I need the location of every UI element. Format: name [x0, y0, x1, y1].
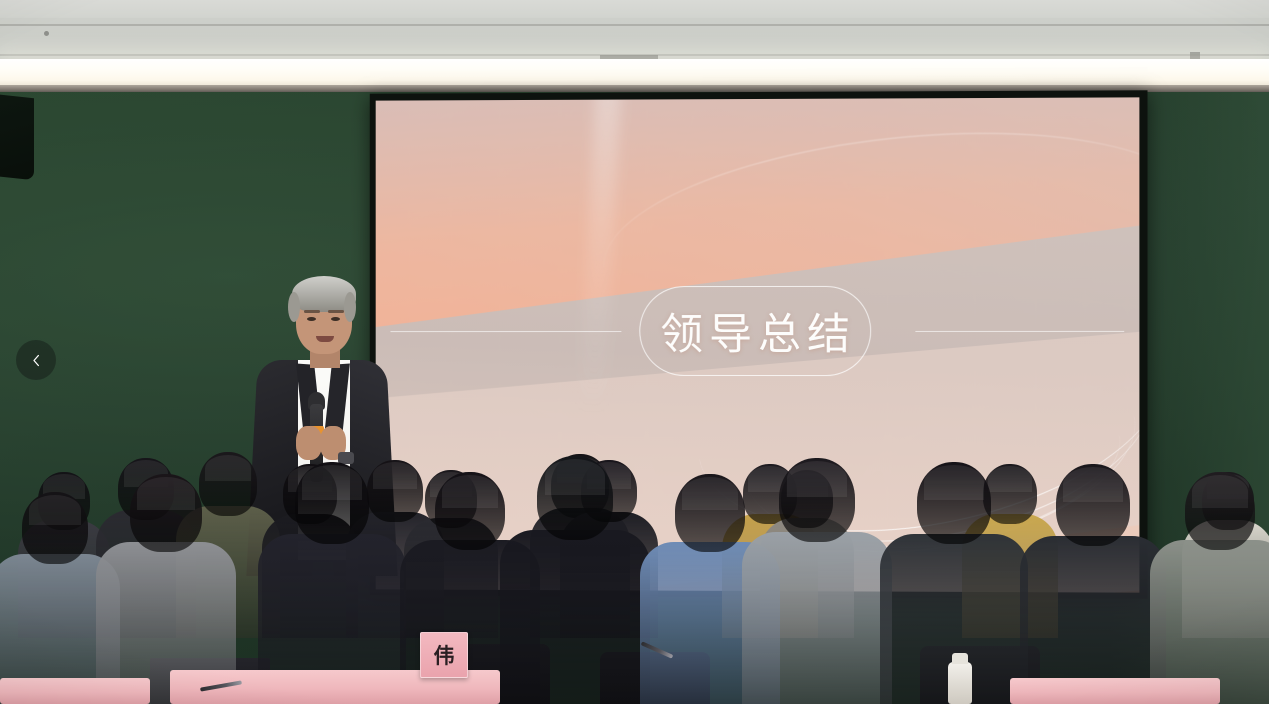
- nameplate-text: 伟: [434, 640, 455, 670]
- presenter-eye: [331, 317, 340, 321]
- audience-member: [742, 448, 892, 704]
- audience-member-head: [1185, 472, 1255, 550]
- audience-member-head: [22, 492, 88, 564]
- ceiling-fixture-dot: [44, 31, 49, 36]
- audience-member-head: [435, 472, 505, 550]
- presenter-hair-side: [344, 292, 356, 322]
- bottle-cap: [952, 653, 968, 664]
- audience-member-head: [130, 474, 202, 552]
- slide-title-rule-right: [916, 331, 1124, 332]
- ceiling-led-strip: [0, 59, 1269, 85]
- table-cloth: [0, 678, 150, 704]
- audience-member: [1150, 462, 1269, 704]
- audience-member-head: [675, 474, 745, 552]
- audience-member-head: [537, 456, 613, 540]
- ceiling-seam: [0, 24, 1269, 26]
- audience-member: [500, 446, 650, 704]
- audience-member-body: [742, 532, 892, 704]
- slide-title: 领导总结: [654, 300, 856, 362]
- previous-image-button[interactable]: [16, 340, 56, 380]
- water-bottle: [948, 662, 972, 704]
- presenter-eyebrow: [328, 310, 344, 313]
- audience-member: [96, 464, 236, 704]
- presenter-hair-side: [288, 292, 300, 322]
- presenter-eye: [307, 317, 316, 321]
- audience-member-head: [1056, 464, 1130, 546]
- audience-member-head: [295, 462, 369, 544]
- audience-member: [1020, 454, 1166, 704]
- ceiling: [0, 0, 1269, 96]
- audience-member-body: [500, 530, 650, 704]
- audience-member-head: [917, 462, 991, 544]
- presenter-eyebrow: [304, 310, 320, 313]
- photo-viewer: 领导总结: [0, 0, 1269, 704]
- nameplate: 伟: [420, 632, 468, 678]
- table-cloth: [1010, 678, 1220, 704]
- audience: 伟: [0, 444, 1269, 704]
- wall-speaker: [0, 94, 34, 180]
- audience-member-head: [779, 458, 855, 542]
- slide-title-pill: 领导总结: [639, 286, 871, 376]
- slide-title-rule-left: [391, 331, 622, 332]
- audience-member: [258, 452, 406, 704]
- chevron-left-icon: [29, 353, 44, 368]
